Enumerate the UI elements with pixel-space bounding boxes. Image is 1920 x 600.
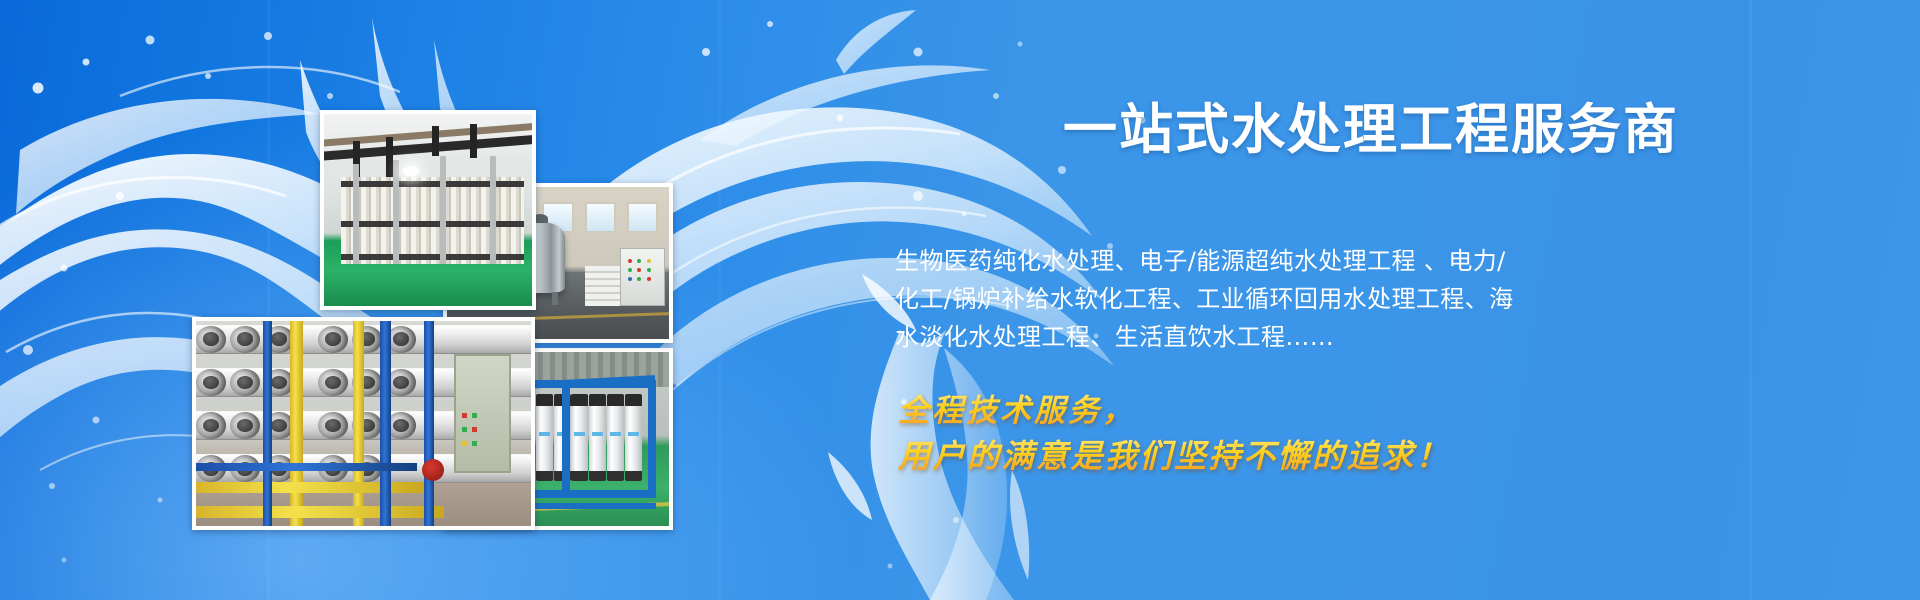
description-line-2: 化工/锅炉补给水软化工程、工业循环回用水处理工程、海 [895, 280, 1655, 318]
photo-ro-membrane-array[interactable] [192, 317, 535, 530]
photo-collage [0, 0, 760, 600]
page-title: 一站式水处理工程服务商 [1063, 100, 1679, 160]
slogan-line-1: 全程技术服务， [898, 389, 1698, 434]
service-description: 生物医药纯化水处理、电子/能源超纯水处理工程 、电力/ 化工/锅炉补给水软化工程… [895, 242, 1655, 356]
description-line-1: 生物医药纯化水处理、电子/能源超纯水处理工程 、电力/ [895, 242, 1655, 280]
company-slogan: 全程技术服务， 用户的满意是我们坚持不懈的追求！ [898, 389, 1698, 479]
photo-uf-membrane-hall[interactable] [320, 110, 536, 310]
description-line-3: 水淡化水处理工程、生活直饮水工程…… [895, 318, 1655, 356]
banner-text-block: 一站式水处理工程服务商 生物医药纯化水处理、电子/能源超纯水处理工程 、电力/ … [895, 0, 1920, 600]
banner-root: 一站式水处理工程服务商 生物医药纯化水处理、电子/能源超纯水处理工程 、电力/ … [0, 0, 1920, 600]
slogan-line-2: 用户的满意是我们坚持不懈的追求！ [898, 434, 1698, 479]
